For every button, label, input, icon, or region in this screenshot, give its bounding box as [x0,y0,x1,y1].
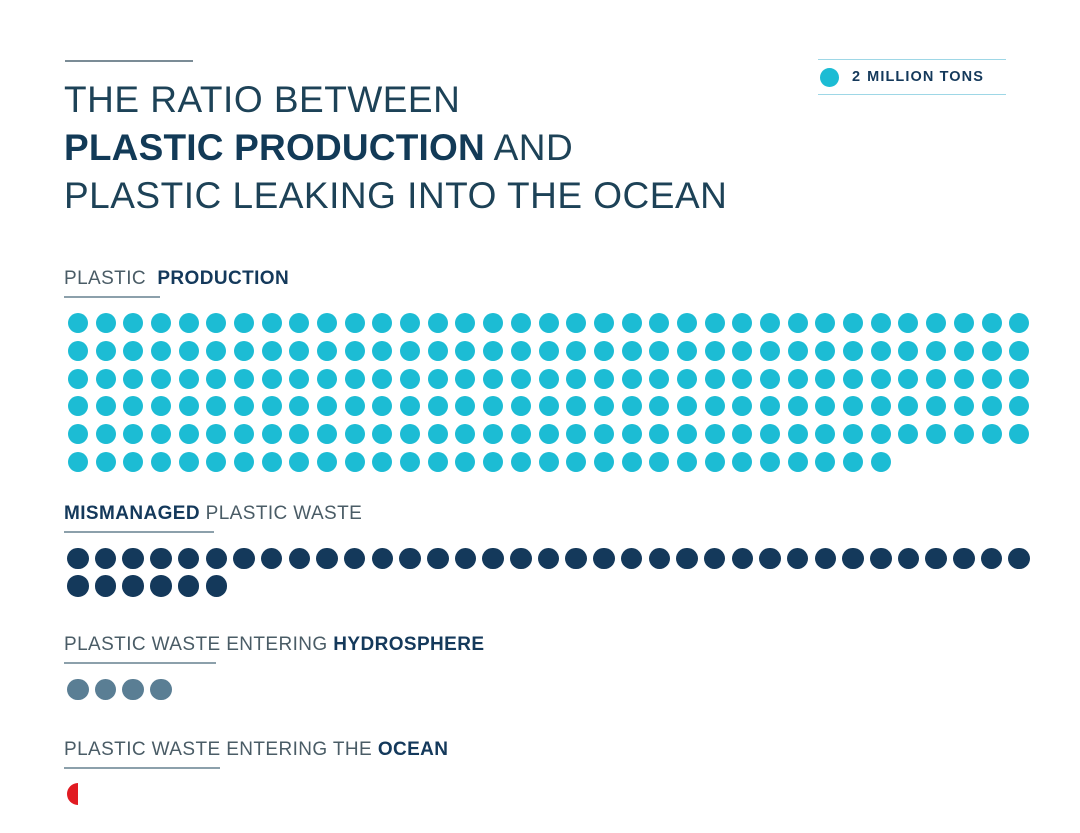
unit-dot-icon [759,548,781,570]
unit-dot-icon [677,452,697,472]
unit-dot-icon [122,575,144,597]
dot-cell [507,545,535,573]
dot-cell [756,545,784,573]
dot-cell [867,365,895,393]
unit-dot-icon [150,679,172,701]
unit-dot-icon [926,396,946,416]
unit-dot-icon [68,341,88,361]
dot-cell [92,448,120,476]
unit-dot-icon [566,396,586,416]
unit-dot-icon [262,396,282,416]
dot-cell [369,365,397,393]
section-plastic-production: PLASTIC PRODUCTION [64,268,1033,476]
dot-cell [673,545,701,573]
unit-dot-icon [539,452,559,472]
unit-dot-icon [455,452,475,472]
dot-cell [673,420,701,448]
dot-cell [119,393,147,421]
dot-cell [839,420,867,448]
unit-dot-icon [954,396,974,416]
dot-cell [286,337,314,365]
dot-cell [92,572,120,600]
unit-dot-icon [206,341,226,361]
dot-cell [64,420,92,448]
section-mismanaged-waste: MISMANAGED PLASTIC WASTE [64,503,1033,600]
dot-cell [119,545,147,573]
dot-cell [202,393,230,421]
dot-cell [479,448,507,476]
unit-dot-icon [843,424,863,444]
dot-cell [92,393,120,421]
unit-dot-icon [511,452,531,472]
unit-dot-icon [815,341,835,361]
dot-cell [645,310,673,338]
unit-dot-icon [95,575,117,597]
unit-dot-icon [483,341,503,361]
dot-cell [341,337,369,365]
unit-dot-icon [262,424,282,444]
dot-cell [701,420,729,448]
unit-dot-icon [372,369,392,389]
label-underline-mismanaged [64,531,214,533]
unit-dot-icon [871,341,891,361]
dot-cell [673,365,701,393]
unit-dot-icon [539,313,559,333]
unit-dot-icon [262,369,282,389]
unit-dot-icon [732,341,752,361]
unit-dot-icon [843,313,863,333]
dot-cell [1005,420,1033,448]
label-underline-ocean [64,767,220,769]
unit-dot-icon [788,396,808,416]
unit-dot-icon [289,424,309,444]
dot-row [64,420,1033,448]
dot-cell [92,420,120,448]
unit-dot-icon [677,313,697,333]
unit-dot-icon [815,452,835,472]
unit-dot-icon [206,548,228,570]
title-text-3: PLASTIC LEAKING INTO THE OCEAN [64,175,727,216]
dot-cell [535,420,563,448]
unit-dot-icon [317,424,337,444]
unit-dot-icon [926,341,946,361]
dot-cell [119,420,147,448]
dot-cell [895,310,923,338]
unit-dot-icon [428,341,448,361]
dot-cell [175,572,203,600]
label-bold-hydrosphere: HYDROSPHERE [333,634,484,655]
unit-dot-icon [760,452,780,472]
label-bold-ocean: OCEAN [378,739,449,760]
unit-dot-icon [151,369,171,389]
dot-cell [286,545,314,573]
dot-cell [562,310,590,338]
legend: 2MILLION TONS [818,59,1006,95]
dot-cell [507,365,535,393]
unit-dot-icon [400,313,420,333]
dot-cell [452,393,480,421]
unit-dot-icon [123,452,143,472]
label-underline-hydrosphere [64,662,216,664]
unit-dot-icon [511,424,531,444]
unit-dot-icon [345,369,365,389]
title-text-1: THE RATIO BETWEEN [64,79,460,120]
dot-cell [147,310,175,338]
unit-dot-icon [178,548,200,570]
unit-dot-icon [1008,548,1030,570]
unit-dot-icon [953,548,975,570]
dot-grid-production [64,310,1033,476]
unit-dot-icon [206,575,228,597]
unit-dot-icon [289,369,309,389]
dot-cell [230,420,258,448]
dot-cell [784,545,812,573]
unit-dot-icon [926,313,946,333]
unit-dot-icon [622,341,642,361]
dot-cell [756,337,784,365]
unit-dot-icon [428,313,448,333]
dot-cell [701,448,729,476]
unit-dot-icon [234,313,254,333]
unit-dot-icon [345,396,365,416]
unit-dot-icon [95,679,117,701]
dot-cell [839,448,867,476]
unit-dot-icon [732,369,752,389]
title-line-2: PLASTIC PRODUCTION AND [64,124,824,172]
unit-dot-icon [871,313,891,333]
unit-dot-icon [206,369,226,389]
dot-cell [784,393,812,421]
unit-dot-icon [122,548,144,570]
unit-dot-icon [622,313,642,333]
unit-dot-icon [234,452,254,472]
dot-cell [119,448,147,476]
unit-dot-icon [622,396,642,416]
unit-dot-icon [622,452,642,472]
unit-dot-icon [372,396,392,416]
dot-cell [618,337,646,365]
unit-dot-icon [289,548,311,570]
unit-dot-icon [649,424,669,444]
unit-dot-icon [760,396,780,416]
unit-dot-icon [788,452,808,472]
dot-cell [784,420,812,448]
unit-dot-icon [233,548,255,570]
dot-cell [673,337,701,365]
dot-cell [618,393,646,421]
dot-cell [452,365,480,393]
unit-dot-icon [455,313,475,333]
dot-cell [784,310,812,338]
unit-dot-icon [95,548,117,570]
unit-dot-icon [68,369,88,389]
dot-cell [729,448,757,476]
dot-cell [64,337,92,365]
section-label-hydrosphere: PLASTIC WASTE ENTERING HYDROSPHERE [64,634,484,664]
unit-dot-icon [898,396,918,416]
unit-dot-icon [843,341,863,361]
section-label-mismanaged: MISMANAGED PLASTIC WASTE [64,503,1033,533]
dot-row [64,310,1033,338]
unit-dot-icon [705,424,725,444]
dot-cell [258,420,286,448]
dot-cell [978,310,1006,338]
dot-cell [175,420,203,448]
label-light-mismanaged: PLASTIC WASTE [206,503,363,524]
dot-cell [756,310,784,338]
dot-cell [258,545,286,573]
dot-cell [701,310,729,338]
unit-dot-icon [151,452,171,472]
unit-dot-icon [871,369,891,389]
dot-cell [313,420,341,448]
unit-dot-icon [1009,369,1029,389]
dot-cell [313,337,341,365]
unit-dot-icon [1009,424,1029,444]
unit-dot-icon [67,548,89,570]
unit-dot-icon [954,424,974,444]
unit-dot-icon [483,424,503,444]
title-accent-rule [65,60,193,62]
infographic-page: THE RATIO BETWEEN PLASTIC PRODUCTION AND… [0,0,1080,833]
unit-dot-icon [150,548,172,570]
unit-dot-icon [123,341,143,361]
dot-cell [452,310,480,338]
half-unit-dot-icon [67,783,78,805]
dot-grid-mismanaged [64,545,1033,600]
unit-dot-icon [676,548,698,570]
dot-cell [479,310,507,338]
unit-dot-icon [234,369,254,389]
dot-cell [341,448,369,476]
dot-row [64,676,484,704]
unit-dot-icon [206,452,226,472]
dot-cell [424,545,452,573]
unit-dot-icon [427,548,449,570]
dot-cell [922,365,950,393]
unit-dot-icon [539,424,559,444]
dot-cell [424,420,452,448]
dot-cell [729,545,757,573]
unit-dot-icon [68,396,88,416]
unit-dot-icon [898,548,920,570]
unit-dot-icon [372,452,392,472]
dot-cell [590,448,618,476]
dot-row [64,781,448,809]
dot-cell [92,337,120,365]
unit-dot-icon [982,396,1002,416]
dot-cell [701,365,729,393]
dot-cell [147,448,175,476]
dot-cell [479,545,507,573]
dot-cell [424,448,452,476]
unit-dot-icon [151,424,171,444]
dot-cell [119,572,147,600]
dot-cell [922,545,950,573]
unit-dot-icon [843,369,863,389]
dot-cell [895,545,923,573]
dot-cell [1005,337,1033,365]
dot-cell [452,420,480,448]
dot-cell [729,393,757,421]
dot-cell [978,545,1006,573]
unit-dot-icon [345,313,365,333]
dot-cell [313,448,341,476]
unit-dot-icon [732,313,752,333]
dot-cell [867,393,895,421]
unit-dot-icon [455,341,475,361]
unit-dot-icon [815,548,837,570]
unit-dot-icon [206,313,226,333]
dot-cell [396,365,424,393]
unit-dot-icon [483,452,503,472]
dot-cell [618,545,646,573]
unit-dot-icon [67,679,89,701]
unit-dot-icon [289,452,309,472]
unit-dot-icon [538,548,560,570]
dot-cell [396,420,424,448]
dot-cell [729,365,757,393]
dot-row [64,365,1033,393]
unit-dot-icon [122,679,144,701]
dot-cell [590,337,618,365]
dot-cell [369,448,397,476]
unit-dot-icon [455,548,477,570]
unit-dot-icon [649,452,669,472]
dot-cell [950,420,978,448]
dot-cell [479,365,507,393]
unit-dot-icon [206,424,226,444]
unit-dot-icon [760,369,780,389]
dot-cell [147,337,175,365]
dot-cell [64,572,92,600]
dot-cell [618,310,646,338]
dot-cell [950,310,978,338]
legend-label: 2MILLION TONS [852,69,984,85]
dot-cell [867,545,895,573]
unit-dot-icon [843,396,863,416]
dot-cell [92,365,120,393]
dot-row [64,448,1033,476]
dot-cell [645,337,673,365]
unit-dot-icon [621,548,643,570]
dot-cell [507,337,535,365]
dot-cell-half [64,781,92,809]
dot-cell [729,310,757,338]
unit-dot-icon [123,396,143,416]
dot-cell [64,310,92,338]
unit-dot-icon [566,313,586,333]
unit-dot-icon [566,369,586,389]
dot-cell [729,337,757,365]
label-bold-mismanaged: MISMANAGED [64,503,200,524]
label-wrap-ocean: PLASTIC WASTE ENTERING THE OCEAN [64,739,448,761]
dot-cell [147,393,175,421]
unit-dot-icon [1009,396,1029,416]
unit-dot-icon [96,452,116,472]
unit-dot-icon [594,452,614,472]
dot-cell [64,676,92,704]
dot-cell [895,420,923,448]
unit-dot-icon [482,548,504,570]
unit-dot-icon [400,369,420,389]
unit-dot-icon [565,548,587,570]
dot-cell [369,545,397,573]
unit-dot-icon [649,341,669,361]
unit-dot-icon [566,424,586,444]
label-wrap-hydrosphere: PLASTIC WASTE ENTERING HYDROSPHERE [64,634,484,656]
dot-cell [1005,310,1033,338]
dot-cell [535,337,563,365]
dot-cell [812,310,840,338]
unit-dot-icon [179,313,199,333]
unit-dot-icon [151,396,171,416]
unit-dot-icon [649,313,669,333]
dot-cell [479,393,507,421]
dot-cell [839,310,867,338]
unit-dot-icon [345,452,365,472]
unit-dot-icon [539,369,559,389]
unit-dot-icon [566,452,586,472]
dot-cell [341,420,369,448]
dot-cell [562,545,590,573]
unit-dot-icon [400,396,420,416]
dot-cell [230,545,258,573]
dot-cell [673,393,701,421]
unit-dot-icon [206,396,226,416]
unit-dot-icon [760,313,780,333]
section-hydrosphere: PLASTIC WASTE ENTERING HYDROSPHERE [64,634,484,703]
title-line-3: PLASTIC LEAKING INTO THE OCEAN [64,172,824,220]
dot-cell [396,337,424,365]
unit-dot-icon [594,424,614,444]
dot-cell [175,365,203,393]
dot-cell [64,545,92,573]
dot-cell [756,365,784,393]
unit-dot-icon [179,369,199,389]
dot-cell [341,365,369,393]
unit-dot-icon [815,369,835,389]
unit-dot-icon [539,341,559,361]
unit-dot-icon [760,424,780,444]
legend-unit: MILLION TONS [867,69,984,85]
dot-cell [839,337,867,365]
dot-cell [701,393,729,421]
dot-cell [812,448,840,476]
unit-dot-icon [372,341,392,361]
dot-cell [562,448,590,476]
unit-dot-icon [150,575,172,597]
unit-dot-icon [234,424,254,444]
dot-cell [286,310,314,338]
dot-cell [978,365,1006,393]
dot-cell [812,337,840,365]
unit-dot-icon [372,548,394,570]
unit-dot-icon [483,396,503,416]
unit-dot-icon [622,424,642,444]
unit-dot-icon [262,313,282,333]
dot-cell [867,337,895,365]
dot-cell [590,310,618,338]
unit-dot-icon [705,369,725,389]
unit-dot-icon [594,396,614,416]
dot-cell [756,393,784,421]
dot-cell [286,393,314,421]
unit-dot-icon [898,313,918,333]
unit-dot-icon [815,424,835,444]
dot-cell [645,545,673,573]
unit-dot-icon [455,396,475,416]
